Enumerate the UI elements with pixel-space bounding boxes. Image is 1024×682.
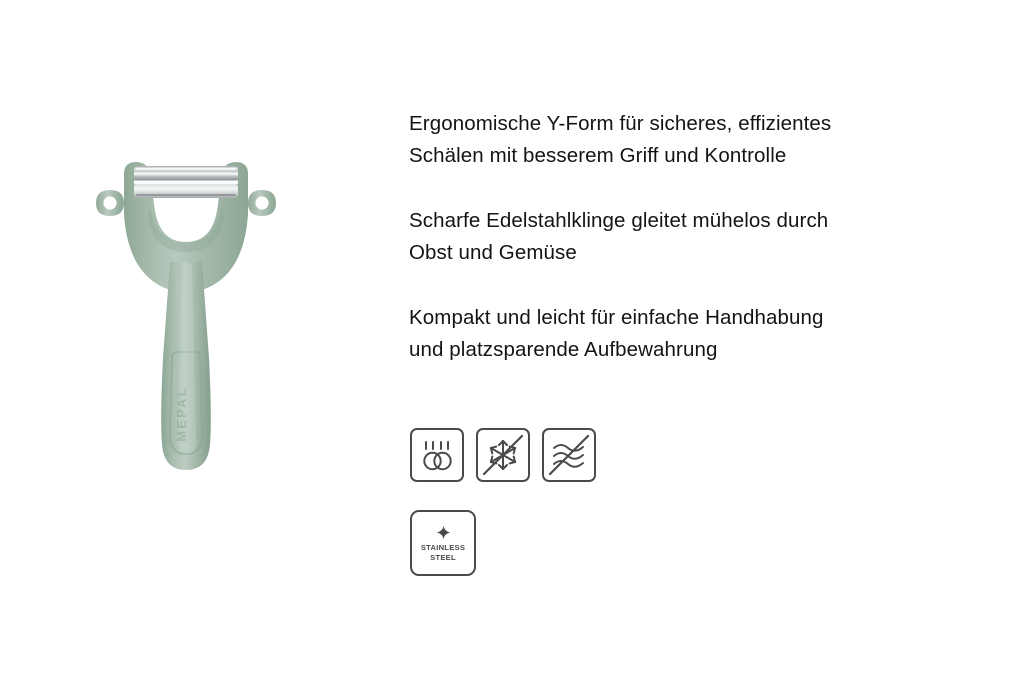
peeler-blade bbox=[134, 166, 238, 198]
svg-text:MEPAL: MEPAL bbox=[174, 386, 189, 442]
feature-line: Ergonomische Y-Form für sicheres, effizi… bbox=[409, 108, 969, 140]
care-badge-dishwasher-safe bbox=[410, 428, 464, 482]
brand-embossed-mepal: MEPAL bbox=[174, 386, 189, 442]
feature-line: und platzsparende Aufbewahrung bbox=[409, 334, 969, 366]
feature-line: Scharfe Edelstahlklinge gleitet mühelos … bbox=[409, 205, 969, 237]
material-badge-stainless-steel: STAINLESS STEEL bbox=[410, 510, 476, 576]
care-symbol-row bbox=[410, 428, 596, 482]
feature-line: Kompakt und leicht für einfache Handhabu… bbox=[409, 302, 969, 334]
care-badge-not-freezer-safe bbox=[476, 428, 530, 482]
y-peeler-product-image: MEPAL bbox=[88, 152, 284, 484]
dishwasher-icon bbox=[417, 435, 457, 475]
feature-line: Schälen mit besserem Griff und Kontrolle bbox=[409, 140, 969, 172]
material-badge-row: STAINLESS STEEL bbox=[410, 510, 476, 576]
sparkle-icon bbox=[437, 526, 450, 539]
microwave-waves-icon bbox=[547, 433, 591, 477]
care-badge-not-microwave-safe bbox=[542, 428, 596, 482]
product-image-pane: MEPAL bbox=[0, 0, 400, 682]
feature-ergonomic-shape: Ergonomische Y-Form für sicheres, effizi… bbox=[409, 108, 969, 172]
feature-compact-light: Kompakt und leicht für einfache Handhabu… bbox=[409, 302, 969, 366]
product-copy-pane: Ergonomische Y-Form für sicheres, effizi… bbox=[409, 0, 1024, 682]
snowflake-icon bbox=[481, 433, 525, 477]
product-feature-page: MEPAL Ergonomische Y-Form für sicheres, … bbox=[0, 0, 1024, 682]
material-label-line1: STAINLESS bbox=[421, 543, 465, 553]
material-label-line2: STEEL bbox=[430, 553, 456, 563]
feature-line: Obst und Gemüse bbox=[409, 237, 969, 269]
feature-sharp-blade: Scharfe Edelstahlklinge gleitet mühelos … bbox=[409, 205, 969, 269]
feature-list: Ergonomische Y-Form für sicheres, effizi… bbox=[409, 108, 969, 366]
